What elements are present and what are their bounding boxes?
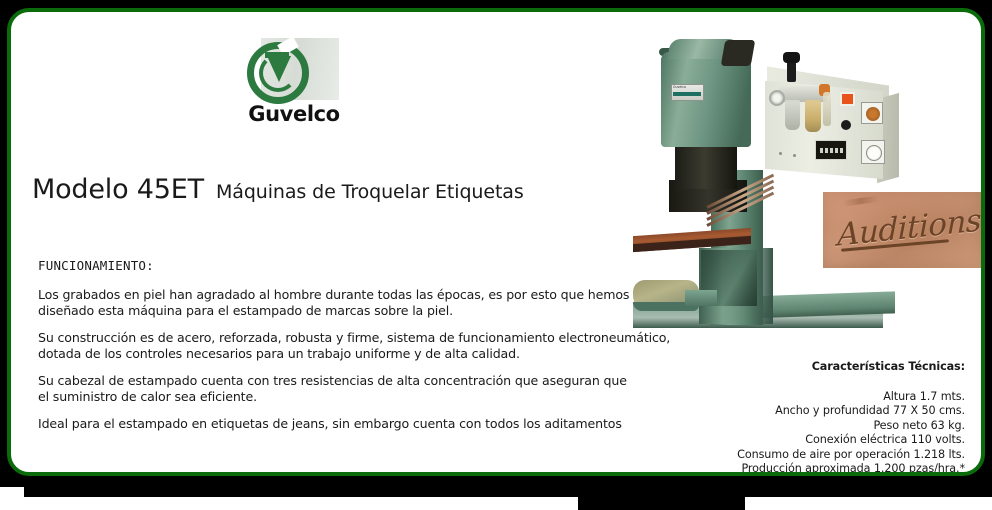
spec-line-produccion: Producción aproximada 1.200 pzas/hra.* [635,462,965,476]
spec-line-altura: Altura 1.7 mts. [635,390,965,404]
leather-sample-photo: Auditions [823,192,983,268]
section-heading-funcionamiento: FUNCIONAMIENTO: [38,258,154,273]
body-paragraph-3: Su cabezal de estampado cuenta con tres … [38,373,638,404]
specs-heading: Características Técnicas: [635,360,965,373]
panel-screw [793,154,796,157]
air-filter-bowl [785,100,800,130]
air-regulator-knob-icon[interactable] [783,52,800,63]
timer-dial-face [866,145,882,161]
body-paragraph-2: Su construcción es de acero, reforzada, … [38,330,686,361]
air-sight-tube [823,92,831,126]
pressure-gauge-icon [769,90,785,106]
product-sheet-card: Guvelco Modelo 45ET Máquinas de Troquela… [7,8,985,476]
logo-stem-icon [275,52,282,68]
body-paragraph-1: Los grabados en piel han agradado al hom… [38,287,638,318]
emergency-stop-button[interactable] [840,92,855,106]
page-title: Modelo 45ET Máquinas de Troquelar Etique… [32,174,524,205]
brand-logo: Guvelco [239,38,339,124]
bottom-band-gap-left [0,487,24,510]
model-subtitle: Máquinas de Troquelar Etiquetas [216,181,524,203]
machine-nameplate-text: Guvelco [673,85,686,89]
spec-line-conexion-electrica: Conexión eléctrica 110 volts. [635,433,965,447]
machine-head-dark-cap [721,40,756,66]
digital-counter [815,140,847,160]
technical-specifications: Características Técnicas: Altura 1.7 mts… [635,360,965,476]
timer-dial[interactable] [861,140,885,164]
spec-line-peso: Peso neto 63 kg. [635,419,965,433]
body-paragraph-4: Ideal para el estampado en etiquetas de … [38,416,638,432]
machine-pedal-arm [685,290,717,306]
panel-screw [779,152,782,155]
spec-line-consumo-aire: Consumo de aire por operación 1.218 lts. [635,448,965,462]
bottom-band-gap-right [745,497,992,510]
machine-nameplate-stripe [673,92,701,96]
spec-line-ancho-profundidad: Ancho y profundidad 77 X 50 cms. [635,404,965,418]
counter-digits [820,148,844,153]
air-lubricator-bowl [805,100,821,132]
model-name: Modelo 45ET [32,174,204,205]
machine-heating-bars [707,184,777,244]
temperature-dial-face [866,107,880,121]
temperature-dial[interactable] [861,102,883,124]
start-button[interactable] [841,120,851,130]
bottom-band-gap-middle [24,497,578,510]
machine-ram-upper [675,147,737,189]
brand-wordmark: Guvelco [239,102,349,126]
